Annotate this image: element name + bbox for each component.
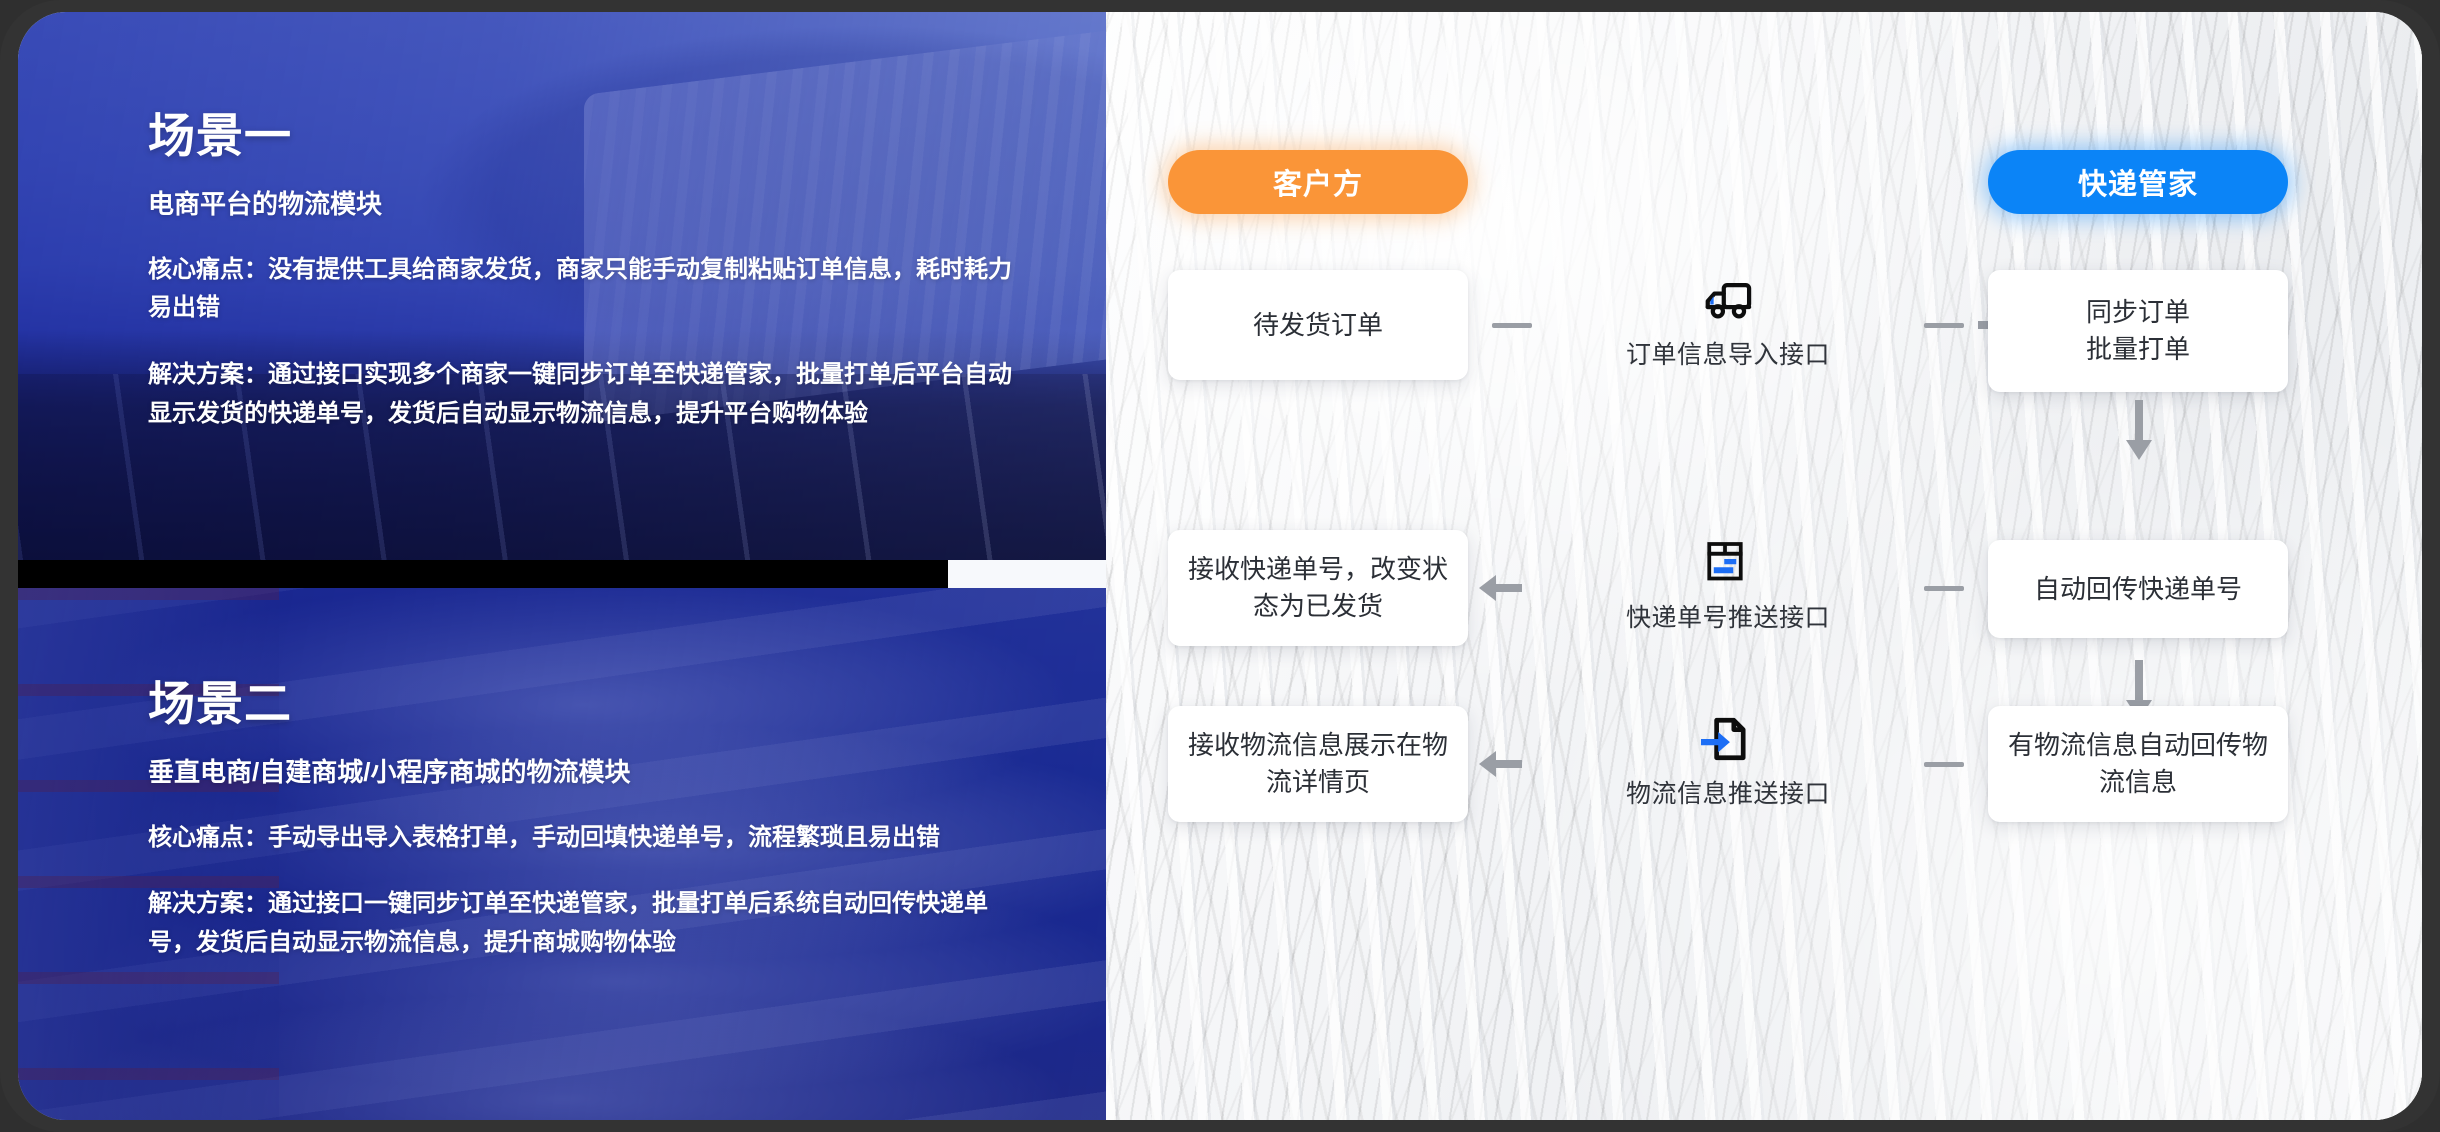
card-label: 自动回传快递单号 (2034, 571, 2242, 608)
card-auto-return-tracking-number[interactable]: 自动回传快递单号 (1988, 540, 2288, 638)
scene-2-body: 场景二 垂直电商/自建商城/小程序商城的物流模块 核心痛点：手动导出导入表格打单… (18, 588, 1106, 963)
card-label: 待发货订单 (1253, 307, 1383, 344)
connector-line-left (1492, 323, 1532, 328)
outer-frame: 场景一 电商平台的物流模块 核心痛点：没有提供工具给商家发货，商家只能手动复制粘… (0, 0, 2440, 1132)
pill-courier-side[interactable]: 快递管家 (1988, 150, 2288, 214)
pill-customer-label: 客户方 (1273, 161, 1363, 203)
connector-line-right (1924, 762, 1964, 767)
interface-3: 物流信息推送接口 (1626, 714, 1830, 810)
scene-card-2: 场景二 垂直电商/自建商城/小程序商城的物流模块 核心痛点：手动导出导入表格打单… (18, 588, 1106, 1120)
scene-1-pain-point: 核心痛点：没有提供工具给商家发货，商家只能手动复制粘贴订单信息，耗时耗力易出错 (148, 251, 1028, 329)
connector-group-1: 订单信息导入接口 (1468, 270, 1988, 380)
pill-courier-label: 快递管家 (2078, 161, 2198, 203)
scene-2-title: 场景二 (148, 676, 1044, 731)
arrow-down-icon-1 (2122, 400, 2156, 462)
scene-2-solution: 解决方案：通过接口一键同步订单至快递管家，批量打单后系统自动回传快递单号，发货后… (148, 885, 1028, 963)
card-label: 有物流信息自动回传物流信息 (2008, 727, 2268, 801)
scene-1-subtitle: 电商平台的物流模块 (148, 187, 1044, 222)
card-auto-return-logistics-info[interactable]: 有物流信息自动回传物流信息 (1988, 706, 2288, 822)
interface-1-caption: 订单信息导入接口 (1626, 335, 1830, 371)
truck-icon (1701, 275, 1755, 329)
flow-diagram-column: 客户方 快递管家 待发货订单 (1106, 12, 2422, 1120)
card-label-line1: 同步订单 (2086, 297, 2190, 327)
interface-1: 订单信息导入接口 (1626, 275, 1830, 371)
pill-customer-side[interactable]: 客户方 (1168, 150, 1468, 214)
scene-1-title: 场景一 (148, 108, 1044, 163)
flow-row-2: 接收快递单号，改变状态为已发货 (1106, 530, 2422, 650)
flow-row-3: 接收物流信息展示在物流详情页 (1106, 706, 2422, 826)
scenes-column: 场景一 电商平台的物流模块 核心痛点：没有提供工具给商家发货，商家只能手动复制粘… (18, 12, 1106, 1120)
connector-group-3: 物流信息推送接口 (1468, 706, 1988, 822)
flow-row-1: 待发货订单 (1106, 270, 2422, 390)
scene-2-pain-point: 核心痛点：手动导出导入表格打单，手动回填快递单号，流程繁琐且易出错 (148, 819, 1028, 858)
scene-1-body: 场景一 电商平台的物流模块 核心痛点：没有提供工具给商家发货，商家只能手动复制粘… (18, 12, 1106, 434)
scene-1-solution: 解决方案：通过接口实现多个商家一键同步订单至快递管家，批量打单后平台自动显示发货… (148, 356, 1028, 434)
card-sync-orders-batch-print[interactable]: 同步订单 批量打单 (1988, 270, 2288, 392)
scene-card-1: 场景一 电商平台的物流模块 核心痛点：没有提供工具给商家发货，商家只能手动复制粘… (18, 12, 1106, 560)
connector-line-right (1924, 586, 1964, 591)
connector-line-right (1924, 323, 1964, 328)
card-label: 接收快递单号，改变状态为已发货 (1188, 551, 1448, 625)
canvas: 场景一 电商平台的物流模块 核心痛点：没有提供工具给商家发货，商家只能手动复制粘… (18, 12, 2422, 1120)
card-label: 同步订单 批量打单 (2086, 294, 2190, 368)
card-receive-tracking-number[interactable]: 接收快递单号，改变状态为已发货 (1168, 530, 1468, 646)
card-label-line2: 批量打单 (2086, 334, 2190, 364)
document-import-icon (1701, 714, 1755, 768)
scene-divider-bar (18, 560, 948, 588)
package-icon (1701, 538, 1755, 592)
card-receive-logistics-info[interactable]: 接收物流信息展示在物流详情页 (1168, 706, 1468, 822)
interface-2-caption: 快递单号推送接口 (1626, 598, 1830, 634)
scene-2-subtitle: 垂直电商/自建商城/小程序商城的物流模块 (148, 755, 1044, 790)
connector-group-2: 快递单号推送接口 (1468, 530, 1988, 646)
card-label: 接收物流信息展示在物流详情页 (1188, 727, 1448, 801)
interface-2: 快递单号推送接口 (1626, 538, 1830, 634)
interface-3-caption: 物流信息推送接口 (1626, 774, 1830, 810)
card-pending-shipment-orders[interactable]: 待发货订单 (1168, 270, 1468, 380)
scene-divider-gap (948, 560, 1106, 588)
